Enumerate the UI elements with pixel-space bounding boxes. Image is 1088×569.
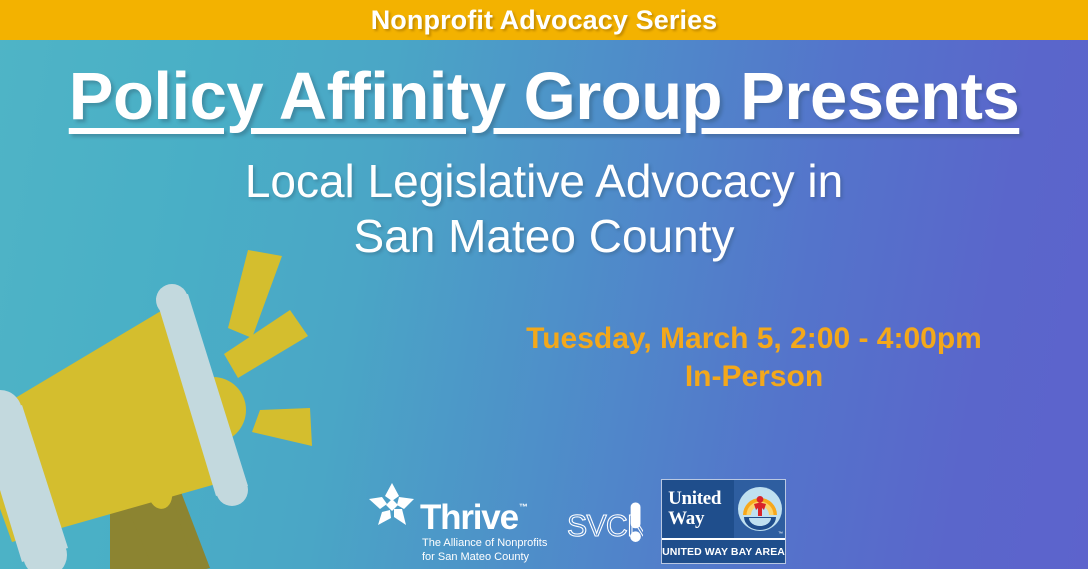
- event-promo-banner: Nonprofit Advocacy Series Policy Affinit…: [0, 0, 1088, 569]
- megaphone-sound-wedge-middle: [224, 310, 308, 378]
- page-subtitle-line-2: San Mateo County: [0, 209, 1088, 263]
- megaphone-rim-cap-top: [156, 284, 188, 316]
- megaphone-trigger-icon: [145, 475, 175, 511]
- megaphone-sound-wedge-bottom: [252, 408, 312, 446]
- thrive-tagline-line-1: The Alliance of Nonprofits: [422, 536, 547, 550]
- united-way-logo: United Way ™ UNITE: [661, 479, 786, 564]
- thrive-logo: Thrive™ The Alliance of Nonprofits for S…: [366, 477, 547, 563]
- sponsor-logo-strip: Thrive™ The Alliance of Nonprofits for S…: [366, 477, 786, 563]
- united-way-wordmark: United Way: [662, 480, 734, 538]
- megaphone-emitter: [180, 377, 246, 443]
- schedule-block: Tuesday, March 5, 2:00 - 4:00pm In-Perso…: [508, 320, 1000, 397]
- megaphone-collar-cap-top: [0, 390, 22, 434]
- thrive-pinwheel-icon: [366, 479, 418, 531]
- svcn-exclamation-stem: [631, 503, 641, 529]
- united-way-emblem-cell: ™: [734, 480, 785, 538]
- megaphone-rim-cap-bottom: [216, 474, 248, 506]
- megaphone-illustration: [0, 250, 380, 569]
- headline-block: Policy Affinity Group Presents Local Leg…: [0, 62, 1088, 263]
- svcn-exclamation-dot: [631, 531, 642, 542]
- thrive-wordmark-row: Thrive™: [420, 501, 526, 534]
- united-way-word-line-1: United: [668, 489, 734, 508]
- united-way-main-panel: United Way ™: [662, 480, 785, 538]
- united-way-footer-bar: UNITED WAY BAY AREA: [662, 538, 785, 563]
- page-subtitle: Local Legislative Advocacy in San Mateo …: [0, 154, 1088, 263]
- event-format: In-Person: [508, 358, 1000, 396]
- megaphone-front-rim: [156, 294, 248, 496]
- megaphone-handle: [110, 450, 210, 569]
- united-way-trademark-icon: ™: [778, 531, 783, 537]
- megaphone-cone: [0, 302, 223, 542]
- megaphone-collar: [0, 405, 68, 562]
- megaphone-collar-cap-bottom: [23, 533, 67, 569]
- page-subtitle-line-1: Local Legislative Advocacy in: [0, 154, 1088, 208]
- united-way-footer-label: UNITED WAY BAY AREA: [662, 546, 785, 558]
- thrive-tagline-line-2: for San Mateo County: [422, 550, 547, 564]
- thrive-wordmark: Thrive: [420, 498, 518, 537]
- thrive-text-block: Thrive™ The Alliance of Nonprofits for S…: [420, 477, 547, 564]
- thrive-trademark-icon: ™: [519, 502, 527, 512]
- event-datetime: Tuesday, March 5, 2:00 - 4:00pm: [508, 320, 1000, 358]
- thrive-tagline: The Alliance of Nonprofits for San Mateo…: [422, 536, 547, 564]
- series-ribbon: Nonprofit Advocacy Series: [0, 0, 1088, 40]
- page-title: Policy Affinity Group Presents: [0, 62, 1088, 132]
- united-way-emblem-icon: [737, 486, 783, 532]
- united-way-word-line-2: Way: [668, 509, 734, 528]
- megaphone-sound-wedge-top: [228, 250, 282, 338]
- series-label: Nonprofit Advocacy Series: [371, 5, 718, 36]
- svcn-logo: SVCN: [567, 492, 643, 554]
- megaphone-handle-shaft: [108, 446, 198, 569]
